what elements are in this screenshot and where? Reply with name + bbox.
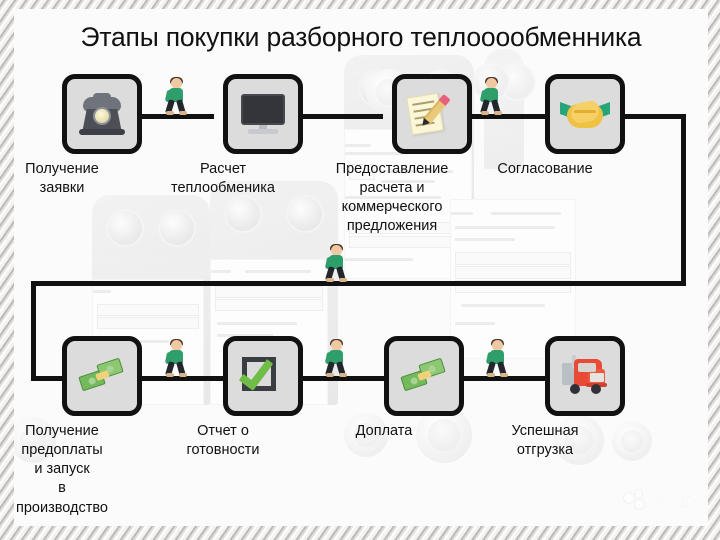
connector-2-3 — [291, 114, 383, 119]
walking-person-icon — [164, 78, 190, 114]
avito-watermark: Avito — [624, 488, 694, 512]
step-5-box[interactable] — [62, 336, 142, 416]
step-4-box[interactable] — [545, 74, 625, 154]
step-6-caption: Отчет о готовности — [186, 422, 259, 460]
red-truck-icon — [560, 351, 610, 401]
step-2-box[interactable] — [223, 74, 303, 154]
connector-wrap-middle — [31, 281, 686, 286]
step-7-box[interactable] — [384, 336, 464, 416]
infographic-canvas: Этапы покупки разборного теплооообменник… — [14, 9, 708, 526]
connector-wrap-left-vertical — [31, 281, 36, 381]
infographic-root: Этапы покупки разборного теплооообменник… — [0, 0, 720, 540]
page-title: Этапы покупки разборного теплооообменник… — [14, 23, 708, 52]
plate-port-knob — [612, 421, 652, 461]
connector-4-wrap-top — [625, 114, 686, 119]
walking-person-icon — [164, 340, 190, 376]
spec-document — [450, 199, 576, 359]
step-7-caption: Доплата — [356, 422, 413, 441]
monitor-icon — [238, 89, 288, 139]
walking-person-icon — [479, 78, 505, 114]
flying-money-icon — [77, 351, 127, 401]
step-6-box[interactable] — [223, 336, 303, 416]
step-8-caption: Успешная отгрузка — [512, 422, 579, 460]
check-box-icon — [238, 351, 288, 401]
step-3-box[interactable] — [392, 74, 472, 154]
walking-person-icon — [324, 245, 350, 281]
avito-dots-icon — [624, 490, 646, 510]
step-3-caption: Предоставление расчета и коммерческого п… — [336, 160, 449, 237]
step-4-caption: Согласование — [497, 160, 592, 179]
connector-3-4 — [460, 114, 548, 119]
step-1-box[interactable] — [62, 74, 142, 154]
step-8-box[interactable] — [545, 336, 625, 416]
step-2-caption: Расчет теплообменика — [171, 160, 275, 198]
step-1-caption: Получение заявки — [25, 160, 99, 198]
memo-pencil-icon — [407, 89, 457, 139]
connector-wrap-right-vertical — [681, 114, 686, 286]
walking-person-icon — [324, 340, 350, 376]
handshake-icon — [560, 89, 610, 139]
telephone-icon — [77, 89, 127, 139]
step-5-caption: Получение предоплаты и запуск в производ… — [16, 422, 108, 518]
flying-money-icon — [399, 351, 449, 401]
avito-watermark-label: Avito — [650, 488, 694, 512]
connector-6-7 — [303, 376, 395, 381]
walking-person-icon — [485, 340, 511, 376]
